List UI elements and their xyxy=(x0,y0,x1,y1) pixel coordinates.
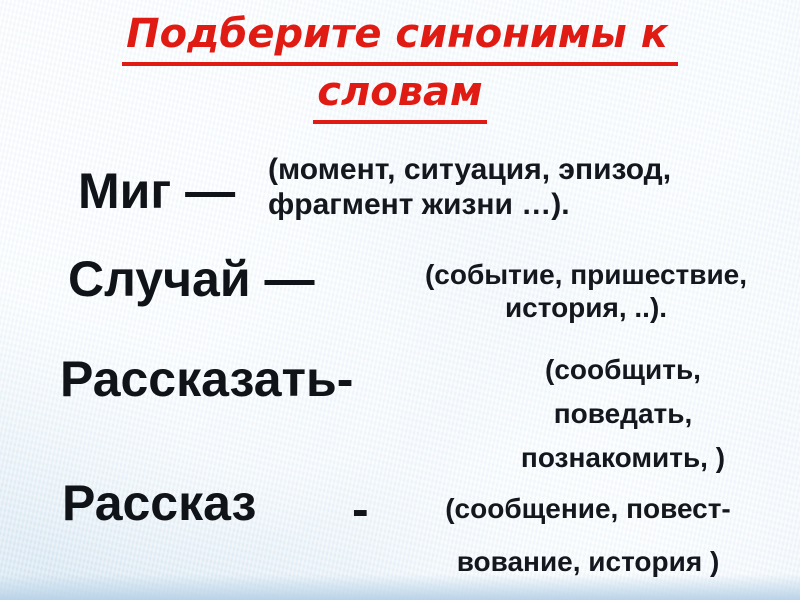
page-title-line-2: словам xyxy=(0,66,800,124)
headword-rasskaz-dash: - xyxy=(352,480,369,538)
page-title: Подберите синонимы к словам xyxy=(0,8,800,124)
gloss-rasskazat: (сообщить, поведать, познакомить, ) xyxy=(458,348,788,481)
page-title-line-2-text: словам xyxy=(313,66,487,124)
gloss-mig: (момент, ситуация, эпизод, фрагмент жизн… xyxy=(268,152,780,223)
headword-sluchay: Случай — xyxy=(68,254,314,304)
headword-rasskazat: Рассказать- xyxy=(60,354,353,404)
gloss-sluchay: (событие, пришествие, история, ..). xyxy=(372,258,800,324)
slide-canvas: Подберите синонимы к словам Миг — (момен… xyxy=(0,0,800,600)
headword-mig: Миг — xyxy=(78,166,235,216)
page-title-line-1-text: Подберите синонимы к xyxy=(122,8,678,66)
headword-rasskaz: Рассказ xyxy=(62,478,256,528)
gloss-rasskaz: (сообщение, повест- вование, история ) xyxy=(388,482,788,588)
page-title-line-1: Подберите синонимы к xyxy=(0,8,800,66)
slide-content: Подберите синонимы к словам Миг — (момен… xyxy=(0,0,800,600)
